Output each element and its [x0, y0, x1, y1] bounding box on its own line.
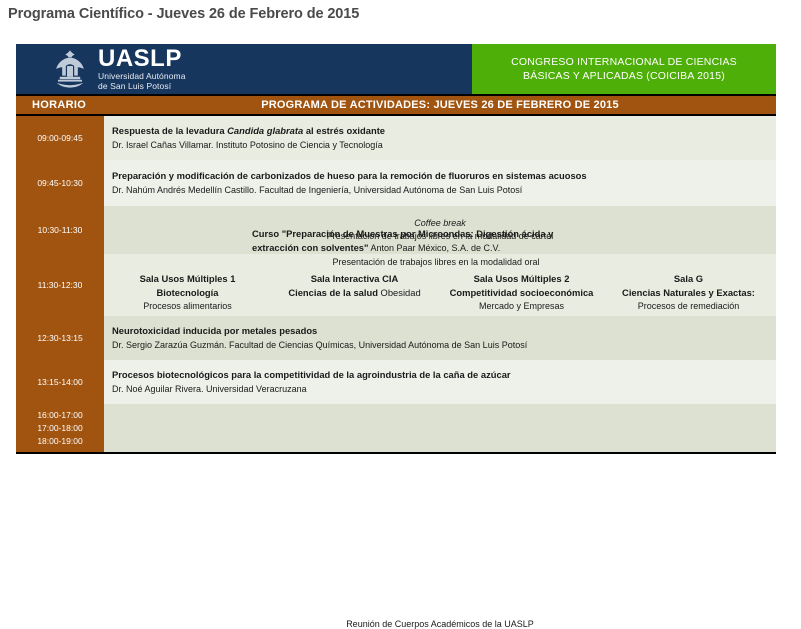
time-cell: 09:45-10:30 [16, 160, 104, 206]
course-title-line1: Curso "Preparación de Muestras por Micro… [252, 227, 636, 241]
table-row-course: Curso "Preparación de Muestras por Micro… [104, 404, 776, 452]
session-topic-main: Ciencias Naturales y Exactas: [622, 287, 755, 298]
time-column: 09:00-09:45 09:45-10:30 10:30-11:30 11:3… [16, 116, 104, 452]
time-cell: 13:15-14:00 [16, 360, 104, 404]
column-header-programa: PROGRAMA DE ACTIVIDADES: JUEVES 26 DE FE… [104, 96, 776, 114]
congress-title-line1: CONGRESO INTERNACIONAL DE CIENCIAS [511, 55, 737, 69]
header-banner: UASLP Universidad Autónoma de San Luis P… [16, 44, 776, 94]
course-title-line2-bold: extracción con solventes" [252, 242, 368, 253]
table-row: Respuesta de la levadura Candida glabrat… [104, 116, 776, 160]
time-line: 17:00-18:00 [37, 422, 82, 435]
uaslp-crest-icon [52, 49, 88, 89]
talk-title: Respuesta de la levadura Candida glabrat… [112, 124, 776, 137]
table-row: Preparación y modificación de carbonizad… [104, 160, 776, 206]
talk-title-pre: Respuesta de la levadura [112, 125, 227, 136]
time-cell: 10:30-11:30 [16, 206, 104, 254]
time-cell: 09:00-09:45 [16, 116, 104, 160]
talk-title: Preparación y modificación de carbonizad… [112, 169, 776, 182]
page-title: Programa Científico - Jueves 26 de Febre… [8, 6, 359, 22]
session-topic-main: Biotecnología [157, 287, 219, 298]
uaslp-subtitle-line2: de San Luis Potosí [98, 81, 186, 91]
time-line: 18:00-19:00 [37, 435, 82, 448]
reunion-cell: Reunión de Cuerpos Académicos de la UASL… [346, 619, 534, 629]
time-line: 16:00-17:00 [37, 409, 82, 422]
time-cell: 11:30-12:30 [16, 254, 104, 316]
schedule-body: 09:00-09:45 09:45-10:30 10:30-11:30 11:3… [16, 116, 776, 454]
uaslp-logo-block: UASLP Universidad Autónoma de San Luis P… [16, 44, 472, 94]
talk-speaker: Dr. Israel Cañas Villamar. Instituto Pot… [112, 139, 776, 152]
uaslp-acronym: UASLP [98, 47, 186, 71]
course-provider: Anton Paar México, S.A. de C.V. [368, 243, 500, 253]
course-title-line2: extracción con solventes" Anton Paar Méx… [252, 241, 636, 255]
talk-speaker: Dr. Nahúm Andrés Medellín Castillo. Facu… [112, 184, 776, 197]
activity-column: Respuesta de la levadura Candida glabrat… [104, 116, 776, 452]
uaslp-subtitle-line1: Universidad Autónoma [98, 71, 186, 81]
time-cell: 12:30-13:15 [16, 316, 104, 360]
time-cell-multi: 16:00-17:00 17:00-18:00 18:00-19:00 [16, 404, 104, 452]
course-cell: Curso "Preparación de Muestras por Micro… [244, 227, 636, 619]
column-header-horario: HORARIO [16, 96, 104, 114]
table-header-row: HORARIO PROGRAMA DE ACTIVIDADES: JUEVES … [16, 94, 776, 116]
congress-title-line2: BÁSICAS Y APLICADAS (COICIBA 2015) [523, 69, 725, 83]
program-table: UASLP Universidad Autónoma de San Luis P… [16, 44, 776, 454]
congress-title-block: CONGRESO INTERNACIONAL DE CIENCIAS BÁSIC… [472, 44, 776, 94]
talk-title-post: al estrés oxidante [303, 125, 385, 136]
talk-title-species: Candida glabrata [227, 125, 303, 136]
